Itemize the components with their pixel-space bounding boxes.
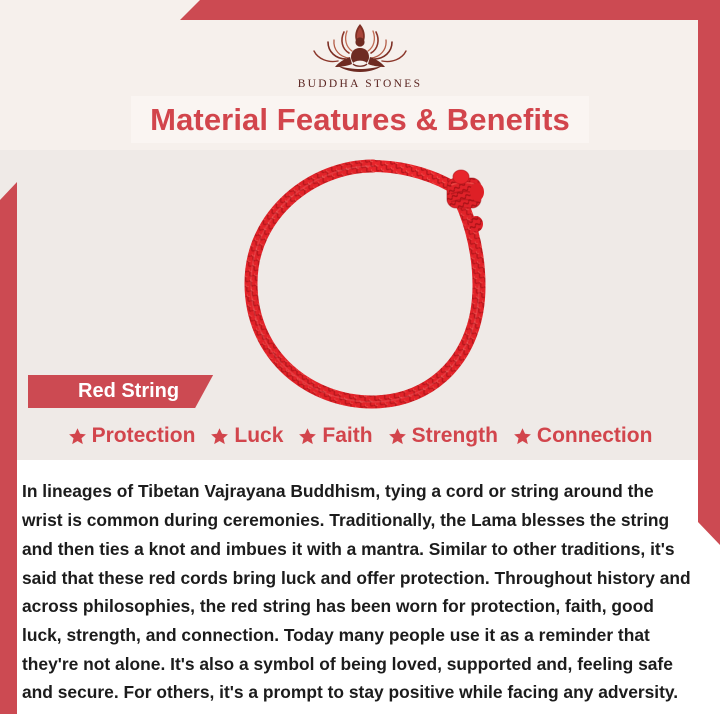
description-paragraph: In lineages of Tibetan Vajrayana Buddhis… <box>22 477 698 707</box>
benefits-row: Protection Luck Faith Strength Connectio… <box>0 419 720 453</box>
product-image <box>225 152 515 414</box>
sliding-knot <box>447 170 484 208</box>
benefit-label: Strength <box>412 424 498 448</box>
brand-logo: BUDDHA STONES <box>0 18 720 90</box>
benefit-label: Protection <box>92 424 196 448</box>
ribbon-label-text: Red String <box>78 380 179 403</box>
benefit-label: Luck <box>234 424 283 448</box>
star-icon <box>388 427 407 446</box>
benefit-item-strength: Strength <box>388 424 498 448</box>
star-icon <box>513 427 532 446</box>
infographic-page: BUDDHA STONES Material Features & Benefi… <box>0 0 720 720</box>
star-icon <box>210 427 229 446</box>
benefit-item-protection: Protection <box>68 424 196 448</box>
page-title: Material Features & Benefits <box>150 102 570 138</box>
benefit-label: Connection <box>537 424 653 448</box>
brand-name: BUDDHA STONES <box>0 78 720 90</box>
decorative-bottom-edge <box>0 714 720 720</box>
benefit-item-connection: Connection <box>513 424 653 448</box>
benefit-item-faith: Faith <box>298 424 372 448</box>
benefit-label: Faith <box>322 424 372 448</box>
ribbon-label: Red String <box>28 375 213 408</box>
star-icon <box>68 427 87 446</box>
star-icon <box>298 427 317 446</box>
benefit-item-luck: Luck <box>210 424 283 448</box>
title-banner: Material Features & Benefits <box>131 96 589 143</box>
lotus-meditation-figure-icon <box>304 18 416 76</box>
red-braided-string-bracelet-icon <box>225 152 515 414</box>
